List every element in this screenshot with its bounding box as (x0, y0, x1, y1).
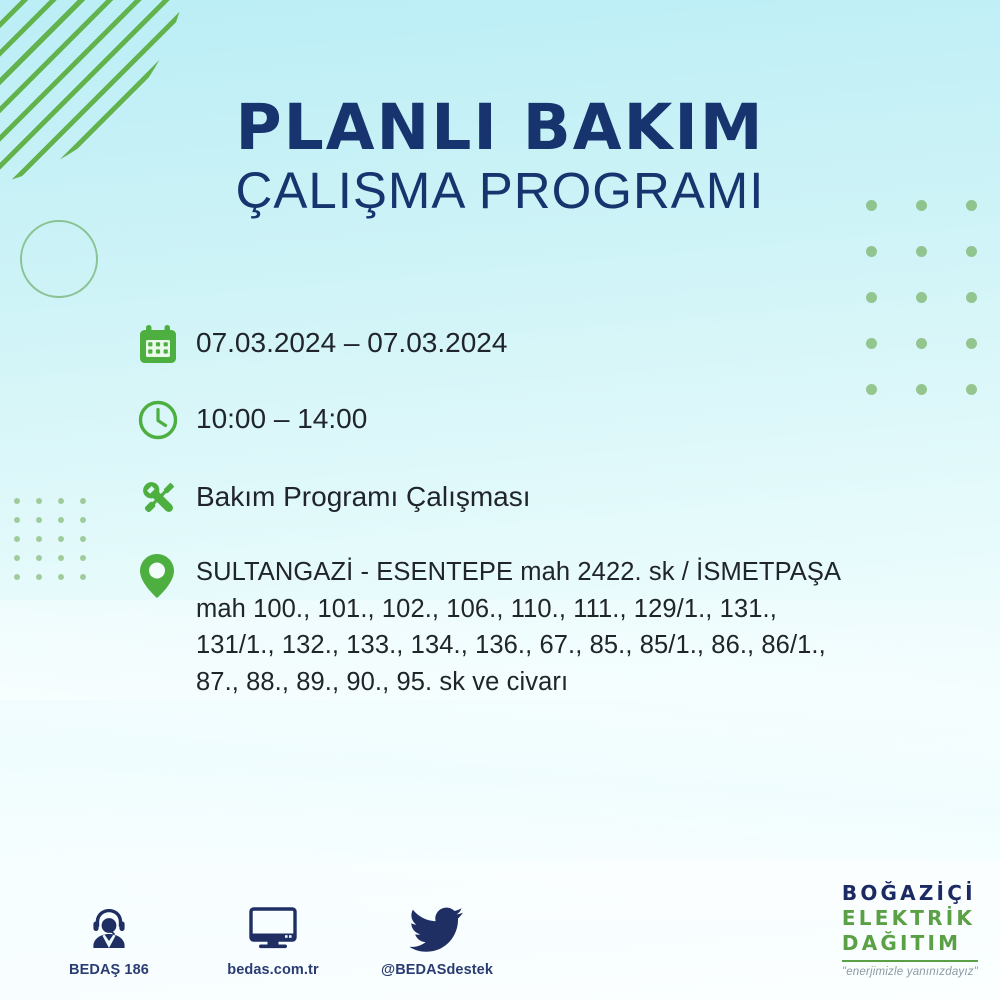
address-row: SULTANGAZİ - ESENTEPE mah 2422. sk / İSM… (136, 552, 926, 701)
page-subtitle: ÇALIŞMA PROGRAMI (0, 159, 1000, 223)
address-text: SULTANGAZİ - ESENTEPE mah 2422. sk / İSM… (196, 552, 926, 701)
info-block: 07.03.2024 – 07.03.2024 10:00 – 14:00 (136, 318, 926, 723)
tools-icon (136, 472, 196, 524)
address-line: 131/1., 132., 133., 134., 136., 67., 85.… (196, 627, 926, 664)
date-row: 07.03.2024 – 07.03.2024 (136, 318, 926, 370)
location-pin-icon (136, 552, 196, 600)
clock-icon (136, 394, 196, 446)
brand-logo: BOĞAZİÇİ ELEKTRİK DAĞITIM "enerjimizle y… (842, 883, 978, 979)
time-range-text: 10:00 – 14:00 (196, 394, 926, 437)
brand-line-elektrik: ELEKTRİK (842, 908, 978, 928)
poster-header: PLANLI BAKIM ÇALIŞMA PROGRAMI (0, 96, 1000, 223)
background-sheen-secondary (0, 700, 1000, 860)
brand-tagline: "enerjimizle yanınızdayız" (842, 967, 978, 979)
brand-divider (842, 960, 978, 962)
address-line: mah 100., 101., 102., 106., 110., 111., … (196, 591, 926, 628)
page-title: PLANLI BAKIM (0, 96, 1000, 159)
footer-contacts: BEDAŞ 186 bedas.com.tr @B (50, 901, 496, 978)
work-type-row: Bakım Programı Çalışması (136, 472, 926, 524)
contact-phone[interactable]: BEDAŞ 186 (50, 901, 168, 978)
brand-line-dagitim: DAĞITIM (842, 933, 978, 953)
address-line: 87., 88., 89., 90., 95. sk ve civarı (196, 664, 926, 701)
support-agent-headset-icon (50, 901, 168, 953)
date-range-text: 07.03.2024 – 07.03.2024 (196, 318, 926, 361)
time-row: 10:00 – 14:00 (136, 394, 926, 446)
work-type-text: Bakım Programı Çalışması (196, 472, 926, 515)
dot-grid-left-decoration (14, 498, 102, 593)
twitter-bird-icon (378, 901, 496, 953)
address-line: SULTANGAZİ - ESENTEPE mah 2422. sk / İSM… (196, 554, 926, 591)
contact-phone-label: BEDAŞ 186 (50, 962, 168, 978)
calendar-icon (136, 318, 196, 370)
brand-line-bogazici: BOĞAZİÇİ (842, 883, 978, 903)
contact-twitter-label: @BEDASdestek (378, 962, 496, 978)
contact-twitter[interactable]: @BEDASdestek (378, 901, 496, 978)
contact-website-label: bedas.com.tr (214, 962, 332, 978)
circle-outline-decoration (20, 220, 98, 298)
monitor-icon (214, 901, 332, 953)
planned-maintenance-poster: PLANLI BAKIM ÇALIŞMA PROGRAMI (0, 0, 1000, 1000)
contact-website[interactable]: bedas.com.tr (214, 901, 332, 978)
